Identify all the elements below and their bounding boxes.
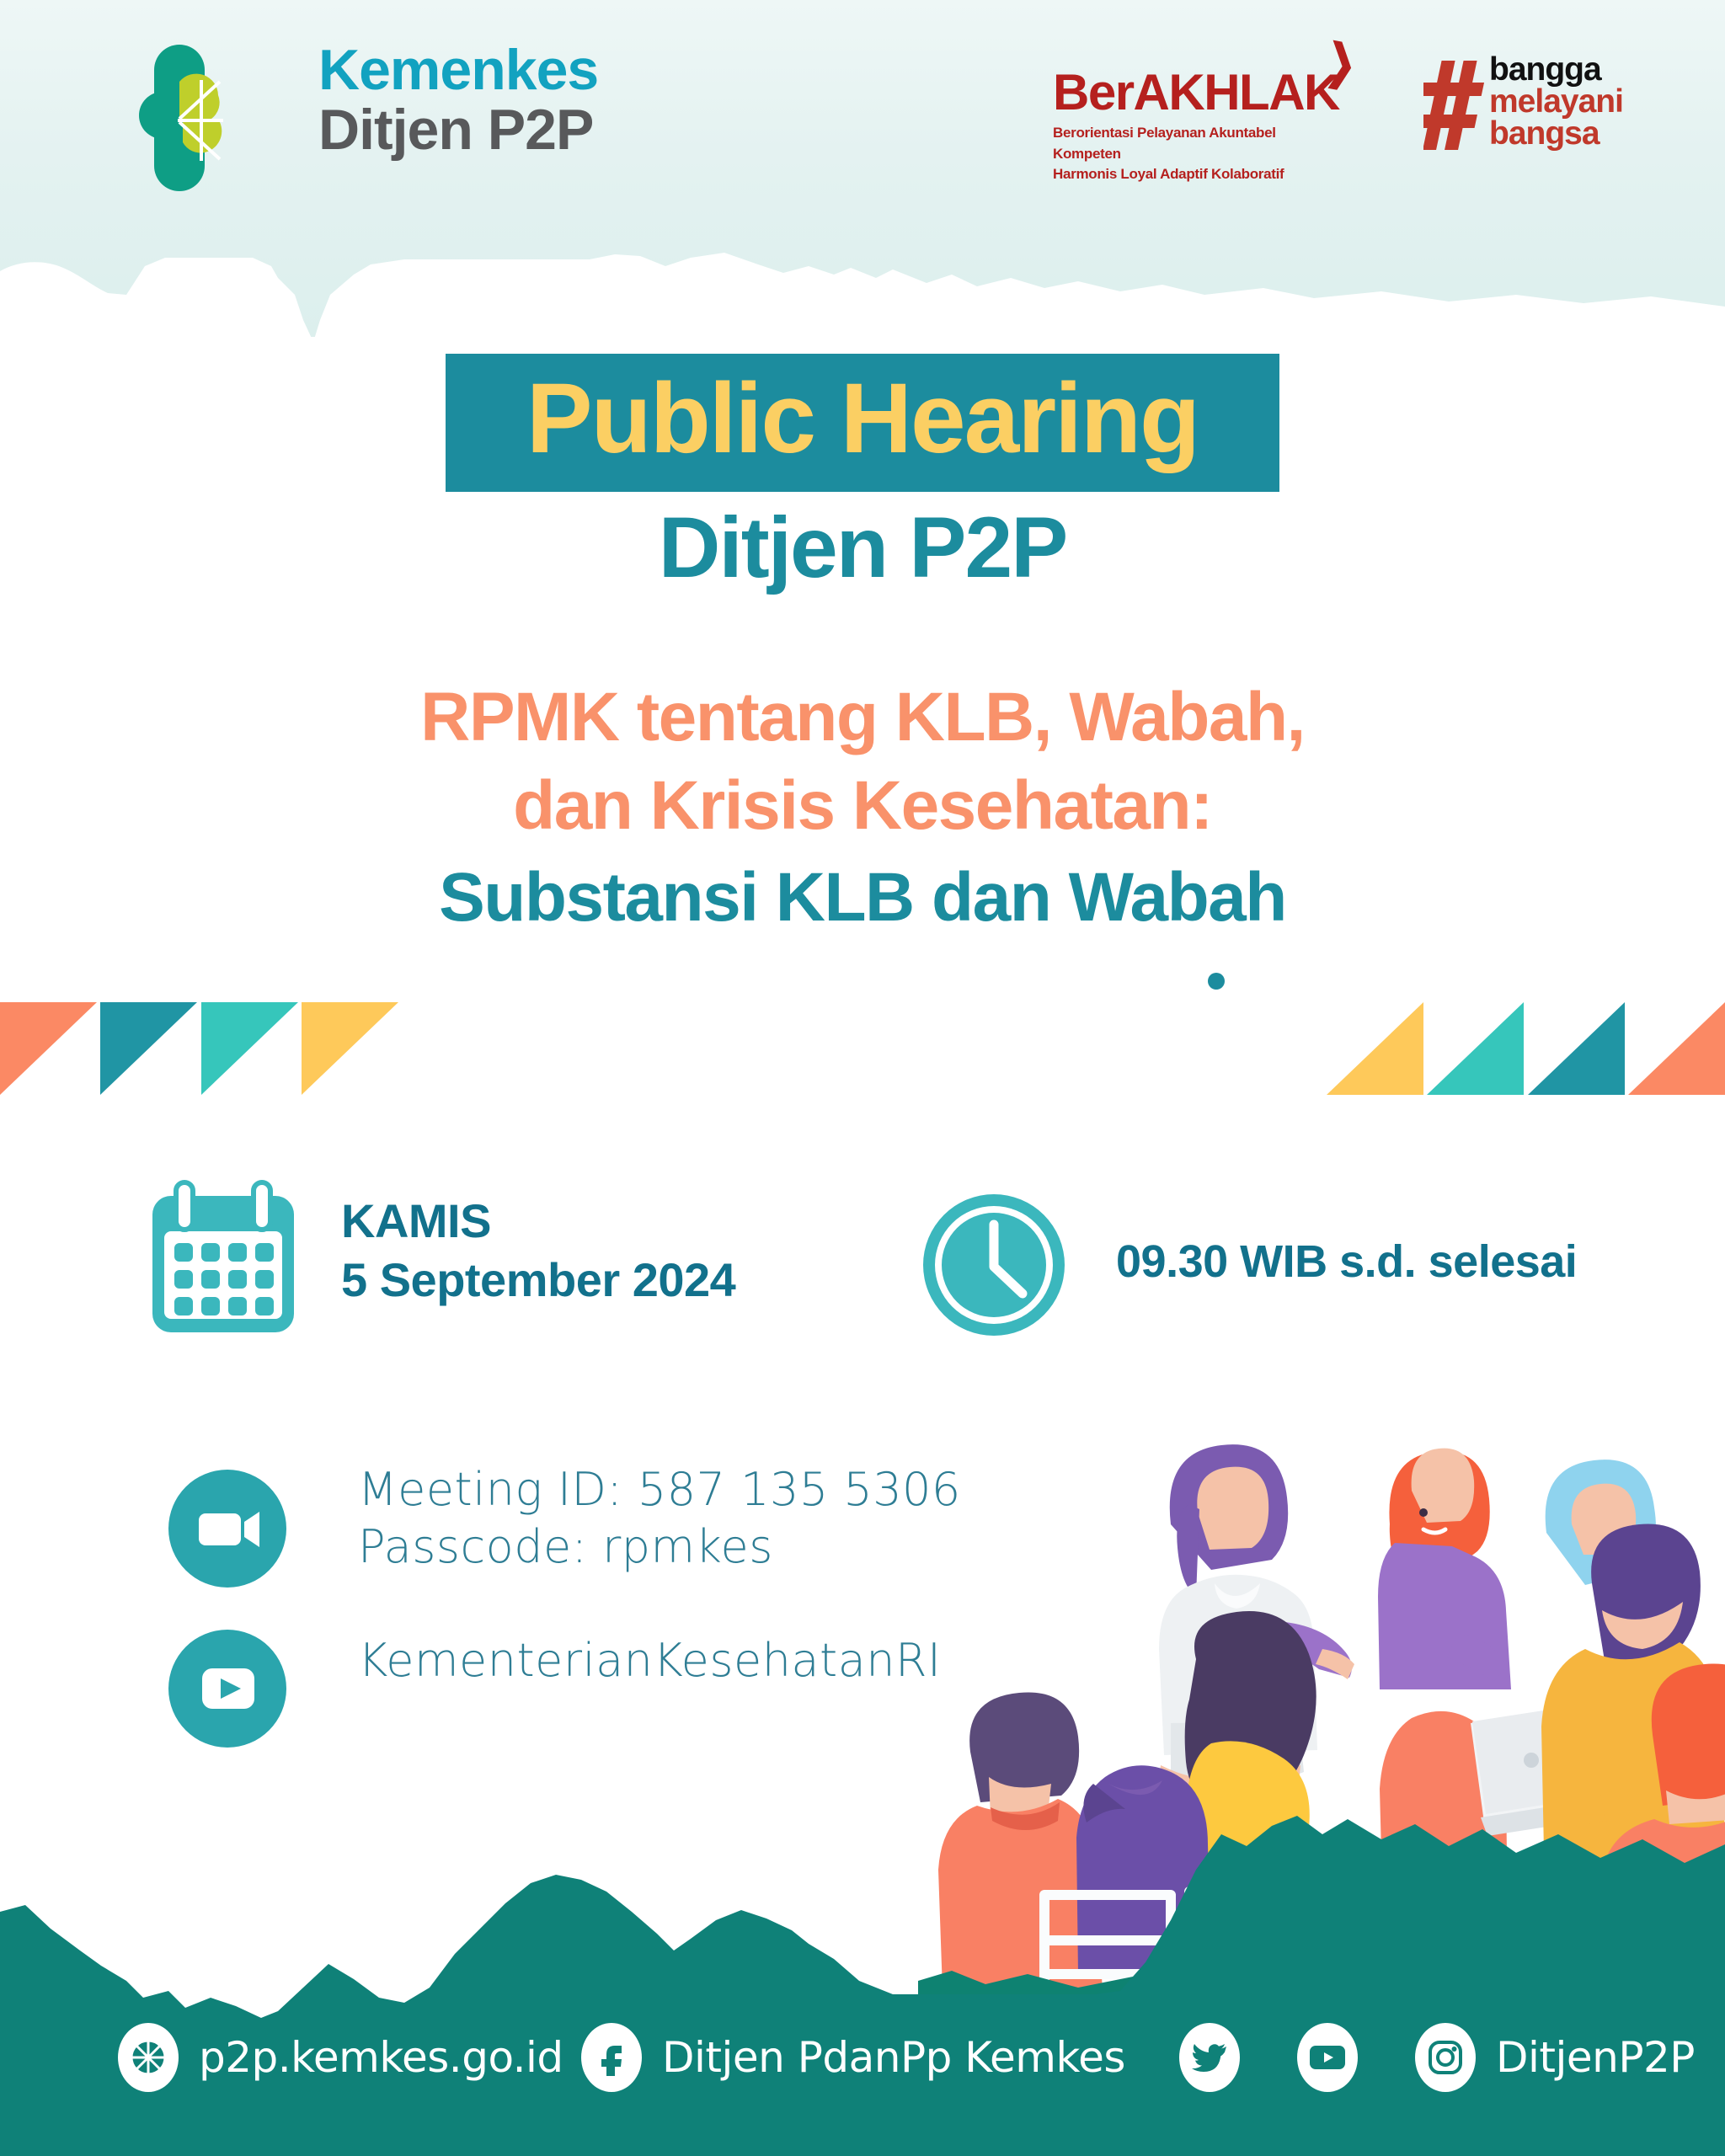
kemenkes-heart-logo [114, 38, 257, 198]
triangle-right-3 [1528, 1002, 1625, 1095]
bangga-melayani-bangsa-logo: bangga melayani bangsa [1423, 51, 1642, 160]
youtube-play-icon[interactable] [168, 1630, 286, 1748]
calendar-icon [147, 1179, 299, 1339]
footer-facebook[interactable]: Ditjen PdanPp Kemkes [581, 2023, 1125, 2092]
bangga-line2: melayani [1489, 86, 1623, 118]
passcode: Passcode: rpmkes [358, 1518, 961, 1576]
footer-instagram[interactable]: DitjenP2P [1415, 2023, 1695, 2092]
zoom-details: Meeting ID: 587 135 5306 Passcode: rpmke… [358, 1461, 961, 1575]
berakhlak-tagline-line2: Harmonis Loyal Adaptif Kolaboratif [1053, 164, 1331, 185]
event-date-text: KAMIS 5 September 2024 [341, 1192, 735, 1310]
person-redhair-purple [1378, 1449, 1511, 1689]
berakhlak-logo: BerAKHLAK ❯ Berorientasi Pelayanan Akunt… [1053, 67, 1331, 185]
clock-icon [918, 1187, 1070, 1343]
twitter-icon [1179, 2023, 1240, 2092]
youtube-icon [1297, 2023, 1358, 2092]
hashtag-icon [1423, 59, 1491, 152]
kemenkes-wordmark: Kemenkes Ditjen P2P [318, 40, 598, 159]
bangga-line3: bangsa [1489, 118, 1623, 150]
title-block: Public Hearing Ditjen P2P [0, 354, 1725, 595]
berakhlak-wordmark: BerAKHLAK ❯ [1053, 67, 1331, 118]
event-date: 5 September 2024 [341, 1251, 735, 1310]
topic-line-3: Substansi KLB dan Wabah [0, 854, 1725, 942]
triangle-right-4 [1628, 1002, 1725, 1095]
title-highlight-bar: Public Hearing [446, 354, 1279, 492]
event-time: 09.30 WIB s.d. selesai [1116, 1235, 1577, 1288]
triangle-decoration-left [0, 1002, 398, 1095]
bangga-wordmark: bangga melayani bangsa [1489, 54, 1623, 149]
topic-line-1: RPMK tentang KLB, Wabah, [0, 674, 1725, 762]
triangle-left-2 [100, 1002, 197, 1095]
ditjen-p2p-label: Ditjen P2P [318, 100, 598, 160]
footer-social-bar: p2p.kemkes.go.id Ditjen PdanPp Kemkes [0, 1979, 1725, 2156]
footer-instagram-label: DitjenP2P [1496, 2033, 1695, 2082]
facebook-icon [581, 2023, 642, 2092]
video-camera-icon[interactable] [168, 1470, 286, 1588]
footer-youtube[interactable] [1297, 2023, 1378, 2092]
topic-block: RPMK tentang KLB, Wabah, dan Krisis Kese… [0, 674, 1725, 942]
footer-website-label: p2p.kemkes.go.id [199, 2033, 563, 2082]
triangle-decoration-right [1327, 1002, 1725, 1095]
berakhlak-text: BerAKHLAK [1053, 64, 1339, 120]
footer-twitter[interactable] [1179, 2023, 1260, 2092]
page-subtitle: Ditjen P2P [0, 500, 1725, 595]
triangle-left-3 [201, 1002, 298, 1095]
berakhlak-tagline-line1: Berorientasi Pelayanan Akuntabel Kompete… [1053, 123, 1331, 164]
meeting-id: Meeting ID: 587 135 5306 [358, 1461, 961, 1518]
youtube-channel: KementerianKesehatanRI [358, 1634, 941, 1687]
event-day: KAMIS [341, 1192, 735, 1251]
page-title: Public Hearing [526, 369, 1199, 468]
bangga-line1: bangga [1489, 54, 1623, 86]
decorative-dot [1208, 973, 1225, 990]
kemenkes-label: Kemenkes [318, 40, 598, 100]
berakhlak-tagline: Berorientasi Pelayanan Akuntabel Kompete… [1053, 123, 1331, 185]
chevron-right-icon: ❯ [1323, 36, 1357, 88]
triangle-left-4 [302, 1002, 398, 1095]
instagram-icon [1415, 2023, 1476, 2092]
footer-website[interactable]: p2p.kemkes.go.id [118, 2023, 563, 2092]
poster-header: Kemenkes Ditjen P2P BerAKHLAK ❯ Berorien… [0, 0, 1725, 227]
footer-facebook-label: Ditjen PdanPp Kemkes [662, 2033, 1125, 2082]
triangle-right-2 [1427, 1002, 1524, 1095]
topic-line-2: dan Krisis Kesehatan: [0, 762, 1725, 851]
triangle-right-1 [1327, 1002, 1423, 1095]
triangle-left-1 [0, 1002, 97, 1095]
website-globe-icon [118, 2023, 179, 2092]
